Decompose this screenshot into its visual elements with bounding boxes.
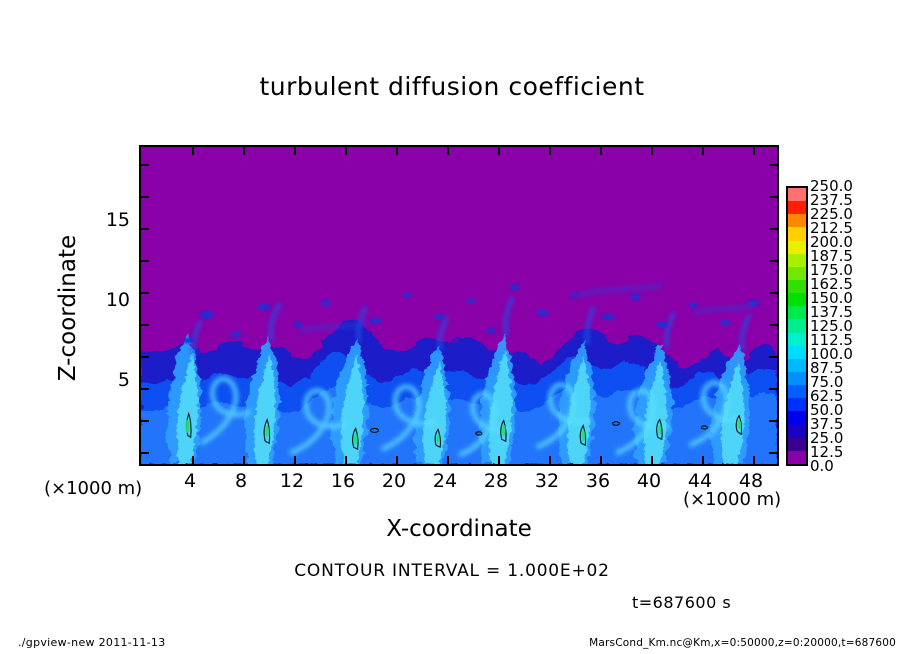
turbulence-field-image bbox=[141, 147, 777, 464]
x-tick bbox=[498, 456, 500, 464]
x-tick bbox=[549, 456, 551, 464]
x-tick bbox=[702, 456, 704, 464]
x-tick-top bbox=[651, 147, 653, 155]
colorbar-band bbox=[788, 425, 806, 438]
gpview-plot-window: turbulent diffusion coefficient bbox=[0, 0, 904, 654]
x-tick-top bbox=[243, 147, 245, 155]
y-tick bbox=[141, 452, 149, 454]
x-unit-right: (×1000 m) bbox=[683, 489, 781, 510]
y-tick-label: 15 bbox=[80, 209, 130, 231]
y-tick-right bbox=[769, 420, 777, 422]
colorbar-band bbox=[788, 359, 806, 372]
y-tick-right bbox=[769, 260, 777, 262]
y-tick bbox=[141, 164, 149, 166]
y-tick-right bbox=[769, 388, 777, 390]
x-tick bbox=[243, 456, 245, 464]
colorbar-band bbox=[788, 346, 806, 359]
x-tick-top bbox=[753, 147, 755, 155]
y-tick bbox=[141, 260, 149, 262]
colorbar-band bbox=[788, 241, 806, 254]
x-tick-top bbox=[549, 147, 551, 155]
y-tick-right bbox=[769, 292, 777, 294]
x-tick bbox=[294, 456, 296, 464]
x-unit-left: (×1000 m) bbox=[44, 478, 142, 499]
x-tick bbox=[753, 456, 755, 464]
colorbar-band bbox=[788, 254, 806, 267]
colorbar-band bbox=[788, 293, 806, 306]
x-tick-top bbox=[498, 147, 500, 155]
x-axis-title: X-coordinate bbox=[139, 516, 779, 542]
colorbar-band bbox=[788, 385, 806, 398]
y-tick-right bbox=[769, 452, 777, 454]
x-tick bbox=[396, 456, 398, 464]
colorbar[interactable] bbox=[786, 186, 808, 466]
y-tick bbox=[141, 420, 149, 422]
plot-area[interactable] bbox=[139, 145, 779, 466]
page-title: turbulent diffusion coefficient bbox=[0, 72, 904, 101]
time-label: t=687600 s bbox=[632, 593, 731, 612]
x-tick bbox=[651, 456, 653, 464]
colorbar-band bbox=[788, 372, 806, 385]
y-tick bbox=[141, 324, 149, 326]
footer-command: ./gpview-new 2011-11-13 bbox=[18, 636, 166, 649]
footer-source: MarsCond_Km.nc@Km,x=0:50000,z=0:20000,t=… bbox=[589, 637, 896, 649]
colorbar-band bbox=[788, 411, 806, 424]
x-tick-top bbox=[192, 147, 194, 155]
x-tick-top bbox=[345, 147, 347, 155]
x-tick-top bbox=[600, 147, 602, 155]
colorbar-band bbox=[788, 319, 806, 332]
colorbar-band bbox=[788, 201, 806, 214]
colorbar-labels: 250.0237.5225.0212.5200.0187.5175.0162.5… bbox=[810, 178, 880, 474]
y-tick bbox=[141, 388, 149, 390]
y-tick-right bbox=[769, 228, 777, 230]
x-tick bbox=[447, 456, 449, 464]
y-tick-label: 5 bbox=[80, 369, 130, 391]
x-tick-top bbox=[294, 147, 296, 155]
colorbar-band bbox=[788, 438, 806, 451]
colorbar-band bbox=[788, 333, 806, 346]
y-axis-title: Z-coordinate bbox=[55, 178, 81, 438]
y-tick bbox=[141, 292, 149, 294]
y-tick bbox=[141, 228, 149, 230]
contour-interval-label: CONTOUR INTERVAL = 1.000E+02 bbox=[0, 561, 904, 581]
y-tick bbox=[141, 356, 149, 358]
y-tick-right bbox=[769, 324, 777, 326]
y-tick-right bbox=[769, 196, 777, 198]
colorbar-tick-label: 0.0 bbox=[810, 459, 834, 473]
colorbar-band bbox=[788, 267, 806, 280]
x-tick-top bbox=[702, 147, 704, 155]
colorbar-band bbox=[788, 280, 806, 293]
colorbar-band bbox=[788, 398, 806, 411]
colorbar-band bbox=[788, 451, 806, 464]
colorbar-band bbox=[788, 227, 806, 240]
x-tick-top bbox=[447, 147, 449, 155]
y-tick-right bbox=[769, 164, 777, 166]
y-tick bbox=[141, 196, 149, 198]
y-tick-right bbox=[769, 356, 777, 358]
colorbar-band bbox=[788, 188, 806, 201]
x-tick bbox=[600, 456, 602, 464]
colorbar-band bbox=[788, 306, 806, 319]
x-tick bbox=[192, 456, 194, 464]
colorbar-band bbox=[788, 214, 806, 227]
x-tick-top bbox=[396, 147, 398, 155]
x-tick bbox=[345, 456, 347, 464]
y-tick-label: 10 bbox=[80, 289, 130, 311]
